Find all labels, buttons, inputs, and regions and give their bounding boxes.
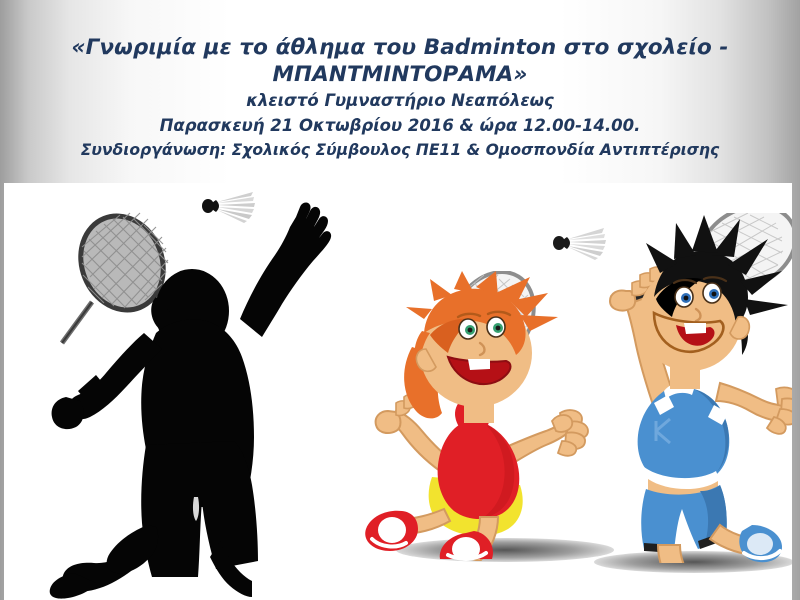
silhouette-player-figure <box>44 201 364 600</box>
cartoon-boy-figure <box>592 213 792 563</box>
poster-venue: κλειστό Γυμναστήριο Νεαπόλεως <box>0 88 800 113</box>
girl-right-arm <box>506 410 588 465</box>
poster-title-line-1: «Γνωριμία με το άθλημα του Badminton στο… <box>0 34 800 61</box>
poster-title-line-2: ΜΠΑΝΤΜΙΝΤΟΡΑΜΑ» <box>0 61 800 88</box>
poster-header: «Γνωριμία με το άθλημα του Badminton στο… <box>0 0 800 183</box>
cartoon-girl-figure <box>344 271 594 561</box>
poster-slide: «Γνωριμία με το άθλημα του Badminton στο… <box>0 0 800 600</box>
poster-date: Παρασκευή 21 Οκτωβρίου 2016 & ώρα 12.00-… <box>0 113 800 138</box>
poster-organizers: Συνδιοργάνωση: Σχολικός Σύμβουλος ΠΕ11 &… <box>0 138 800 163</box>
illustration-panel <box>4 183 792 600</box>
